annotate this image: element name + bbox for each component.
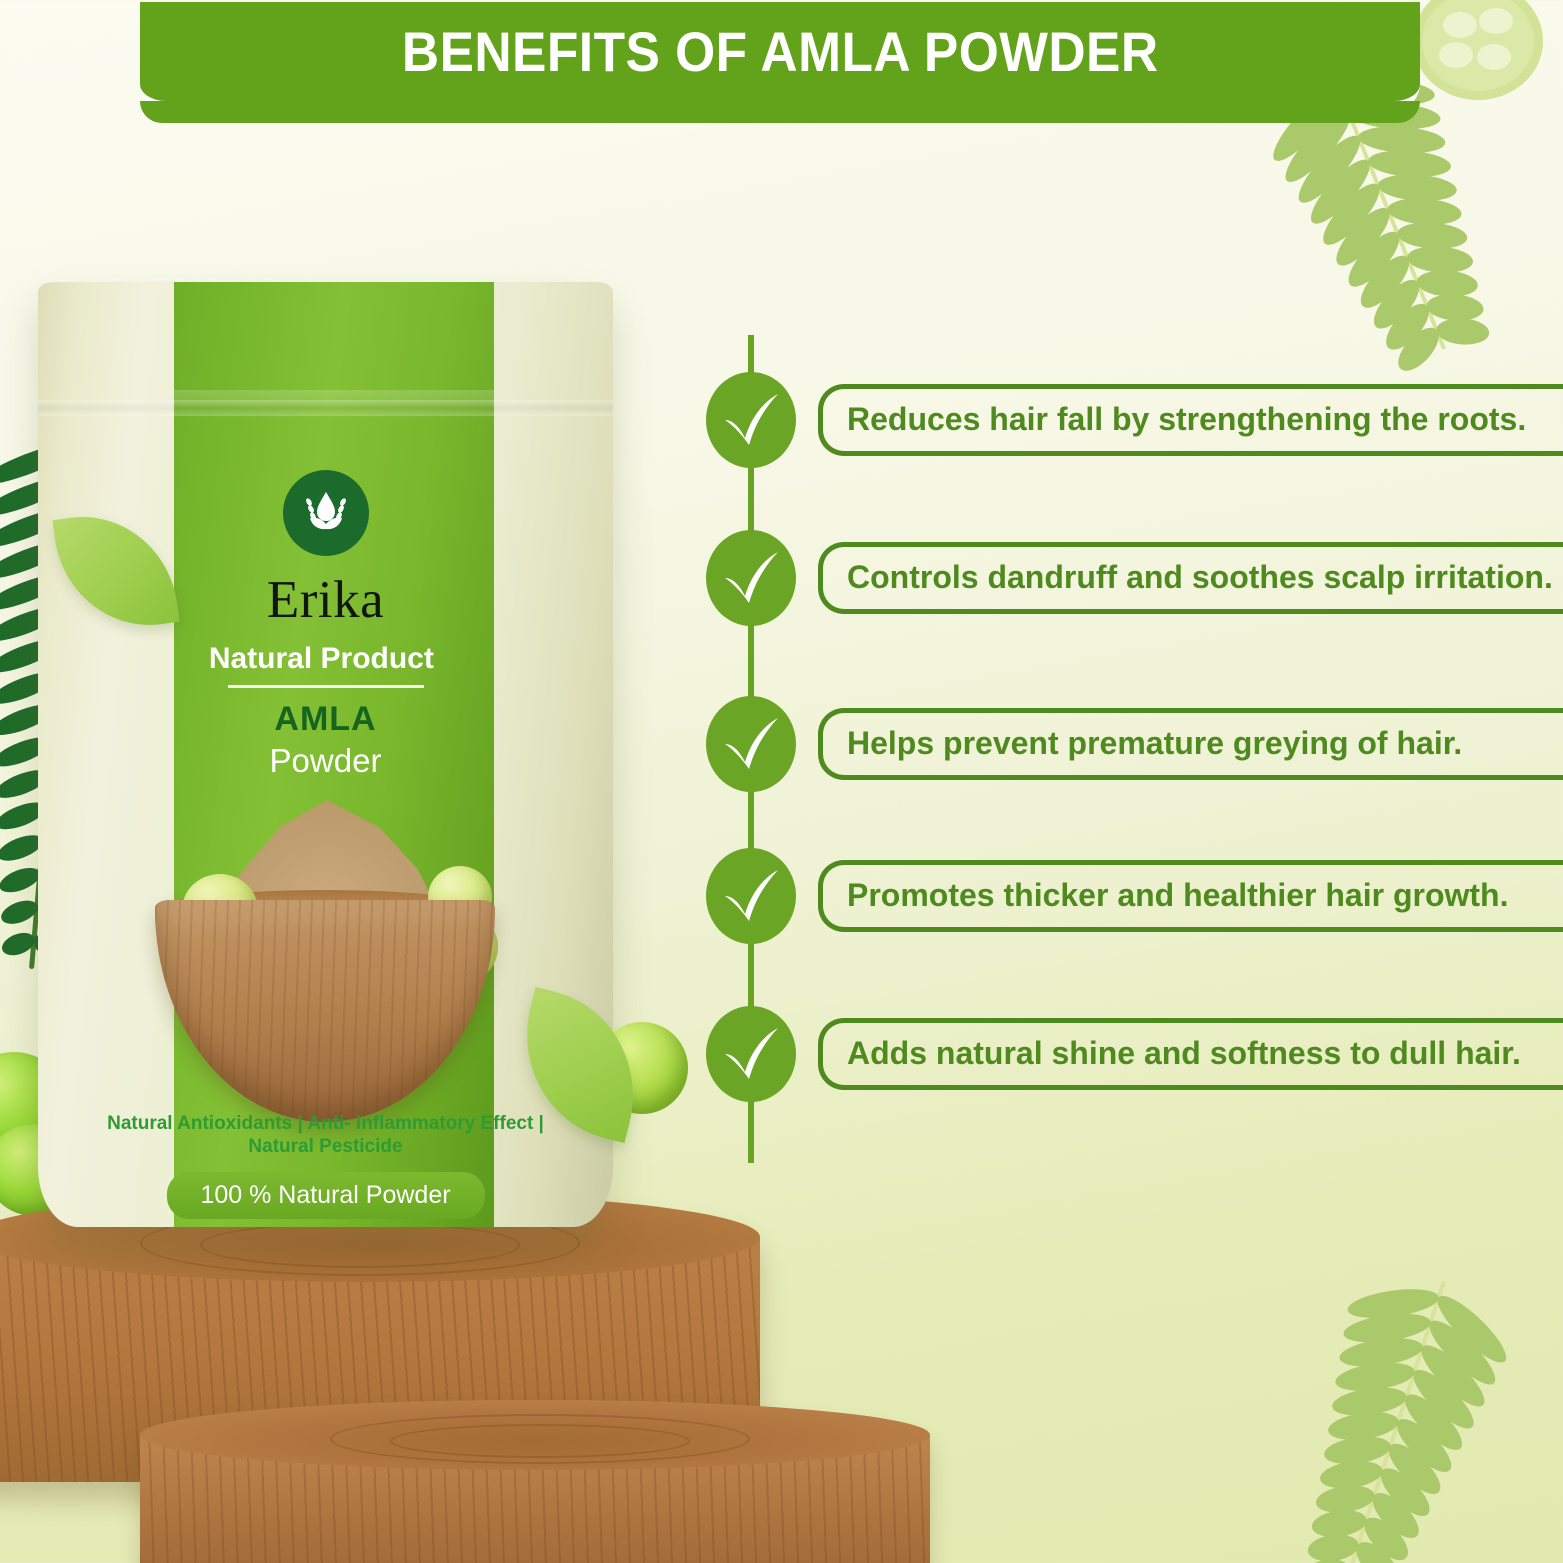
- fern-leaf-bottom-right-icon: [1152, 1219, 1563, 1563]
- label-divider: [228, 685, 424, 688]
- page-title: BENEFITS OF AMLA POWDER: [402, 19, 1159, 84]
- check-icon: [706, 1006, 796, 1102]
- check-icon: [706, 530, 796, 626]
- pouch-zip-seal: [38, 400, 613, 416]
- benefit-item[interactable]: Helps prevent premature greying of hair.: [706, 696, 1563, 792]
- product-tagline: Natural Antioxidants | Anti- inflammator…: [38, 1112, 613, 1158]
- benefit-item[interactable]: Adds natural shine and softness to dull …: [706, 1006, 1563, 1102]
- benefit-text: Adds natural shine and softness to dull …: [818, 1018, 1563, 1090]
- benefit-item[interactable]: Controls dandruff and soothes scalp irri…: [706, 530, 1563, 626]
- benefit-text: Reduces hair fall by strengthening the r…: [818, 384, 1563, 456]
- benefit-item[interactable]: Promotes thicker and healthier hair grow…: [706, 848, 1563, 944]
- page-header: BENEFITS OF AMLA POWDER: [140, 2, 1420, 110]
- benefit-text: Controls dandruff and soothes scalp irri…: [818, 542, 1563, 614]
- check-icon: [706, 372, 796, 468]
- check-icon: [706, 696, 796, 792]
- benefit-text: Promotes thicker and healthier hair grow…: [818, 860, 1563, 932]
- product-name: AMLA: [38, 700, 613, 739]
- natural-product-text: Natural Product: [209, 642, 434, 675]
- natural-product-label: Natural Product: [38, 642, 613, 676]
- wooden-log-bottom: [140, 1400, 930, 1563]
- bowl-illustration: ✷ ✷ ✷: [60, 782, 590, 1142]
- benefit-text: Helps prevent premature greying of hair.: [818, 708, 1563, 780]
- product-pouch: Erika Natural Product AMLA Powder ✷ ✷ ✷ …: [38, 282, 613, 1227]
- wooden-bowl: [155, 900, 495, 1122]
- check-icon: [706, 848, 796, 944]
- natural-powder-badge: 100 % Natural Powder: [166, 1172, 484, 1219]
- benefit-item[interactable]: Reduces hair fall by strengthening the r…: [706, 372, 1563, 468]
- product-type: Powder: [38, 742, 613, 780]
- brand-logo-icon: [283, 470, 369, 556]
